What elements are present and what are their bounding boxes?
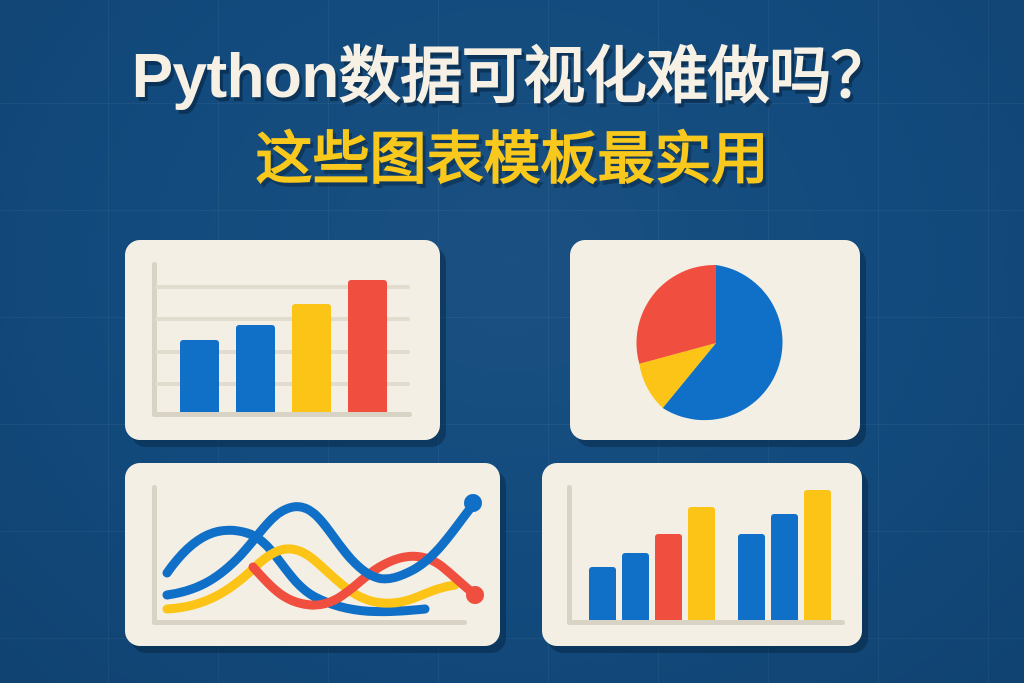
line-chart-curves: [125, 463, 500, 646]
line-chart-card[interactable]: [125, 463, 500, 646]
bar-chart-bar[interactable]: [236, 325, 275, 412]
pie-chart-plot: [570, 240, 860, 440]
line-series-blue-rising[interactable]: [167, 505, 473, 595]
line-endpoint-red[interactable]: [466, 586, 484, 604]
bar-chart-bar[interactable]: [180, 340, 219, 412]
page-title: Python数据可视化难做吗？: [0, 44, 1024, 109]
bar-chart-card[interactable]: [125, 240, 440, 440]
grouped-bar-item[interactable]: [655, 534, 682, 620]
bar-chart-bar[interactable]: [292, 304, 331, 412]
grouped-bar-item[interactable]: [771, 514, 798, 620]
grouped-bar-item[interactable]: [589, 567, 616, 620]
grouped-bar-x-axis: [567, 620, 845, 625]
grouped-bar-item[interactable]: [688, 507, 715, 620]
grouped-bar-y-axis: [567, 485, 572, 625]
pie-chart-card[interactable]: [570, 240, 860, 440]
line-chart-plot: [125, 463, 500, 646]
grouped-bar-item[interactable]: [622, 553, 649, 620]
bar-chart-bar[interactable]: [348, 280, 387, 412]
bar-chart-plot: [125, 240, 440, 440]
bar-chart-x-axis: [152, 412, 412, 417]
grouped-bar-item[interactable]: [804, 490, 831, 620]
page-subtitle: 这些图表模板最实用: [0, 130, 1024, 190]
grouped-bar-item[interactable]: [738, 534, 765, 620]
line-endpoint-blue[interactable]: [464, 494, 482, 512]
grouped-bar-chart-card[interactable]: [542, 463, 862, 646]
grouped-bar-chart-plot: [542, 463, 862, 646]
poster-canvas: Python数据可视化难做吗？ 这些图表模板最实用: [0, 0, 1024, 683]
